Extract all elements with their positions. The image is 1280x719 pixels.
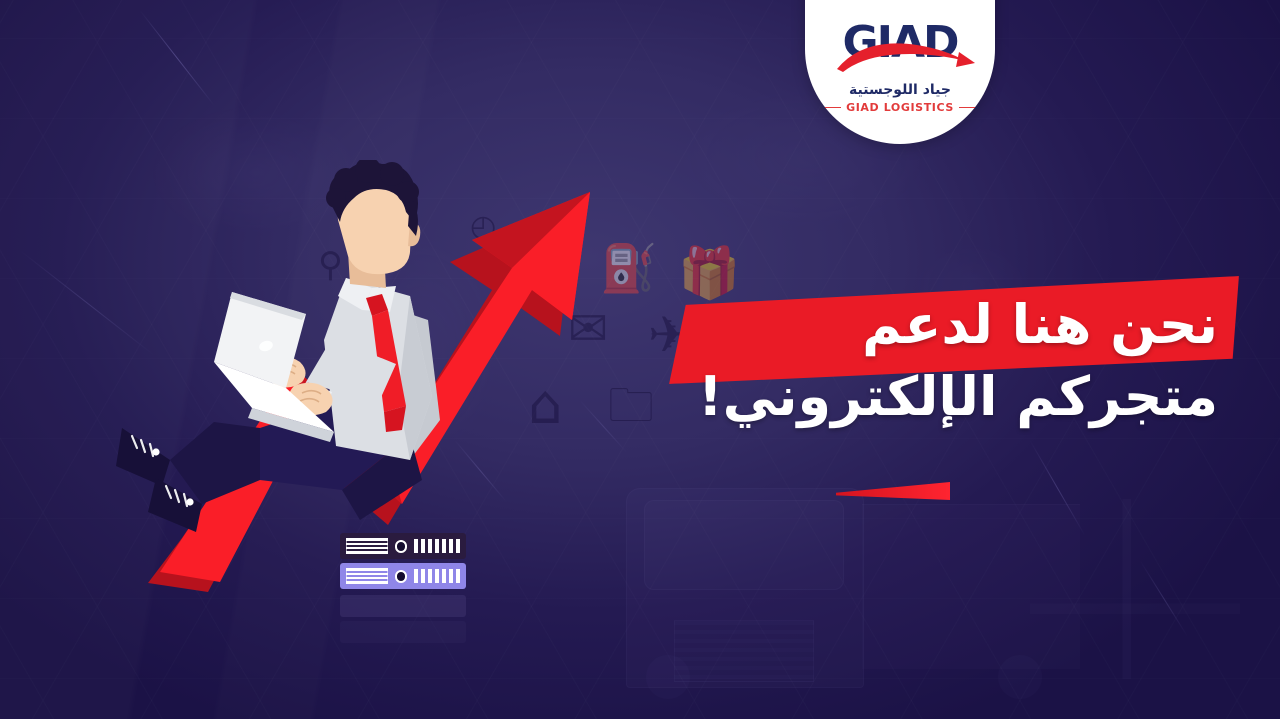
giad-arabic-name: جياد اللوجستية [849, 82, 951, 98]
server-unit-top [340, 533, 466, 559]
headline-block: نحن هنا لدعم متجركم الإلكتروني! [522, 292, 1222, 430]
giad-wordmark: GIAD [825, 21, 975, 65]
tagline-rule-left [825, 107, 841, 109]
giad-english-tagline: GIAD LOGISTICS [846, 101, 954, 114]
tagline-rule-right [959, 107, 975, 109]
server-vent-bars [346, 538, 388, 554]
server-reflection [340, 621, 466, 643]
server-vent-bars [346, 568, 388, 584]
server-reflection [340, 595, 466, 617]
headline-line-2: متجركم الإلكتروني! [522, 364, 1222, 430]
seated-businessman-illustration [110, 160, 470, 540]
server-rack-icons [340, 533, 480, 643]
server-unit-middle [340, 563, 466, 589]
gift-package-icon: 🎁 [678, 248, 740, 298]
server-power-dial [395, 570, 408, 583]
giad-logo-mark: GIAD [825, 21, 975, 79]
giad-tagline-row: GIAD LOGISTICS [825, 101, 975, 114]
server-led-strip [414, 569, 460, 583]
server-power-dial [395, 540, 408, 553]
banner-canvas: ⛽🎁✉✈⌂🗀⚲◴ [0, 0, 1280, 719]
headline-line-1: نحن هنا لدعم [522, 292, 1222, 358]
server-led-strip [414, 539, 460, 553]
